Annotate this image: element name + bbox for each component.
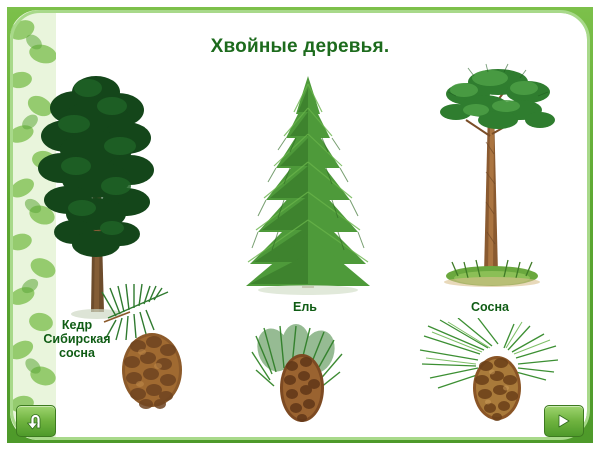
caption-el-line1: Ель <box>270 300 340 314</box>
caption-kedr: Кедр Сибирская сосна <box>22 318 132 360</box>
forward-button[interactable] <box>544 405 584 437</box>
pine-cone-detail <box>418 318 563 433</box>
spruce-cone-detail <box>246 322 356 432</box>
caption-kedr-line3: сосна <box>22 346 132 360</box>
caption-kedr-line1: Кедр <box>22 318 132 332</box>
slide: Хвойные деревья. <box>0 0 600 450</box>
pine-tree-illustration <box>428 62 568 297</box>
caption-kedr-line2: Сибирская <box>22 332 132 346</box>
back-button[interactable] <box>16 405 56 437</box>
caption-sosna: Сосна <box>450 300 530 314</box>
forward-arrow-icon <box>554 412 574 430</box>
page-title: Хвойные деревья. <box>0 36 600 58</box>
caption-sosna-line1: Сосна <box>450 300 530 314</box>
spruce-tree-illustration <box>228 68 388 298</box>
back-arrow-icon <box>26 412 46 430</box>
caption-el: Ель <box>270 300 340 314</box>
